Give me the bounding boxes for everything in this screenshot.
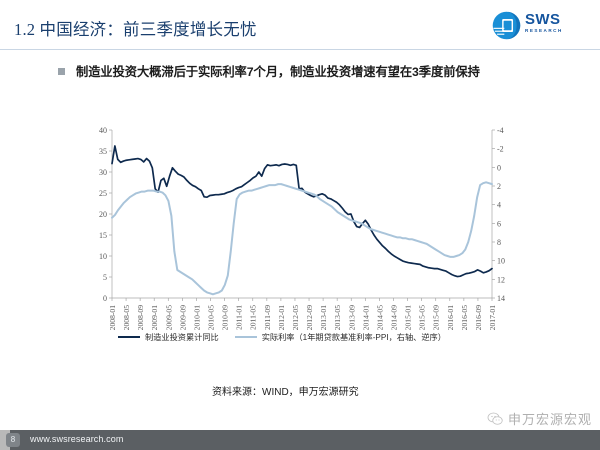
sws-logo: SWS RESEARCH	[492, 9, 588, 41]
legend-item-manufacturing-investment: 制造业投资累计同比	[118, 331, 219, 343]
svg-text:25: 25	[99, 189, 107, 198]
legend-swatch-light	[235, 336, 257, 339]
page-title: 1.2 中国经济：前三季度增长无忧	[14, 16, 257, 40]
svg-text:20: 20	[99, 210, 107, 219]
svg-text:4: 4	[497, 201, 501, 210]
bullet-text: 制造业投资大概滞后于实际利率7个月，制造业投资增速有望在3季度前保持	[76, 62, 480, 80]
svg-text:2016-05: 2016-05	[460, 305, 469, 331]
svg-text:2: 2	[497, 182, 501, 191]
svg-text:12: 12	[497, 275, 505, 284]
svg-text:2014-09: 2014-09	[389, 305, 398, 331]
chart-legend: 制造业投资累计同比 实际利率（1年期贷款基准利率-PPI，右轴、逆序）	[118, 331, 446, 343]
bullet-row: 制造业投资大概滞后于实际利率7个月，制造业投资增速有望在3季度前保持	[58, 62, 480, 80]
svg-text:2013-01: 2013-01	[319, 305, 328, 331]
svg-text:15: 15	[99, 231, 107, 240]
svg-text:2010-01: 2010-01	[192, 305, 201, 331]
svg-text:2011-01: 2011-01	[235, 305, 244, 330]
svg-text:2008-05: 2008-05	[122, 305, 131, 331]
wechat-watermark: 申万宏源宏观	[487, 409, 592, 428]
svg-text:14: 14	[497, 294, 505, 303]
watermark-text: 申万宏源宏观	[508, 409, 592, 428]
svg-text:2015-05: 2015-05	[418, 305, 427, 331]
svg-text:2012-05: 2012-05	[291, 305, 300, 331]
svg-text:2014-05: 2014-05	[375, 305, 384, 331]
svg-text:2011-09: 2011-09	[263, 305, 272, 330]
svg-text:2009-05: 2009-05	[164, 305, 173, 331]
square-bullet-icon	[58, 68, 65, 75]
svg-text:5: 5	[103, 273, 107, 282]
svg-text:2013-05: 2013-05	[333, 305, 342, 331]
sws-logo-subtitle: RESEARCH	[525, 27, 587, 34]
sws-globe-icon	[492, 11, 521, 40]
svg-text:8: 8	[497, 238, 501, 247]
svg-text:-4: -4	[497, 126, 504, 135]
svg-text:2017-01: 2017-01	[488, 305, 497, 331]
svg-text:0: 0	[103, 294, 107, 303]
svg-text:2016-09: 2016-09	[474, 305, 483, 331]
svg-text:2009-09: 2009-09	[178, 305, 187, 331]
svg-text:2010-05: 2010-05	[207, 305, 216, 331]
legend-item-real-interest-rate: 实际利率（1年期贷款基准利率-PPI，右轴、逆序）	[235, 331, 446, 343]
sws-logo-name: SWS	[525, 12, 587, 27]
svg-text:35: 35	[99, 147, 107, 156]
svg-text:0: 0	[497, 163, 501, 172]
slide-header: 1.2 中国经济：前三季度增长无忧 SWS RESEARCH	[0, 0, 600, 50]
source-note: 资料来源：WIND，申万宏源研究	[212, 383, 359, 398]
svg-text:2015-01: 2015-01	[404, 305, 413, 331]
svg-text:2014-01: 2014-01	[361, 305, 370, 331]
svg-text:2016-01: 2016-01	[446, 305, 455, 331]
svg-text:2011-05: 2011-05	[249, 305, 258, 330]
svg-text:2008-09: 2008-09	[136, 305, 145, 331]
svg-text:2012-01: 2012-01	[277, 305, 286, 331]
legend-label-real-interest-rate: 实际利率（1年期贷款基准利率-PPI，右轴、逆序）	[262, 331, 446, 343]
slide-root: 1.2 中国经济：前三季度增长无忧 SWS RESEARCH 制造业投资大概滞后…	[0, 0, 600, 450]
svg-text:2010-09: 2010-09	[221, 305, 230, 331]
svg-text:6: 6	[497, 219, 501, 228]
svg-text:2013-09: 2013-09	[347, 305, 356, 331]
svg-text:2015-09: 2015-09	[432, 305, 441, 331]
svg-text:2012-09: 2012-09	[305, 305, 314, 331]
footer-bar: 8 www.swsresearch.com	[0, 430, 600, 450]
svg-text:40: 40	[99, 126, 107, 135]
footer-url: www.swsresearch.com	[30, 434, 123, 444]
wechat-icon	[487, 411, 503, 427]
svg-text:2008-01: 2008-01	[108, 305, 117, 331]
svg-text:2009-01: 2009-01	[150, 305, 159, 331]
legend-swatch-dark	[118, 336, 140, 339]
header-divider	[0, 49, 600, 50]
svg-text:-2: -2	[497, 145, 504, 154]
sws-wordmark: SWS RESEARCH	[525, 12, 587, 34]
legend-label-manufacturing-investment: 制造业投资累计同比	[145, 331, 219, 343]
svg-text:10: 10	[99, 252, 107, 261]
page-number-badge: 8	[6, 433, 20, 447]
svg-text:10: 10	[497, 257, 505, 266]
svg-text:30: 30	[99, 168, 107, 177]
